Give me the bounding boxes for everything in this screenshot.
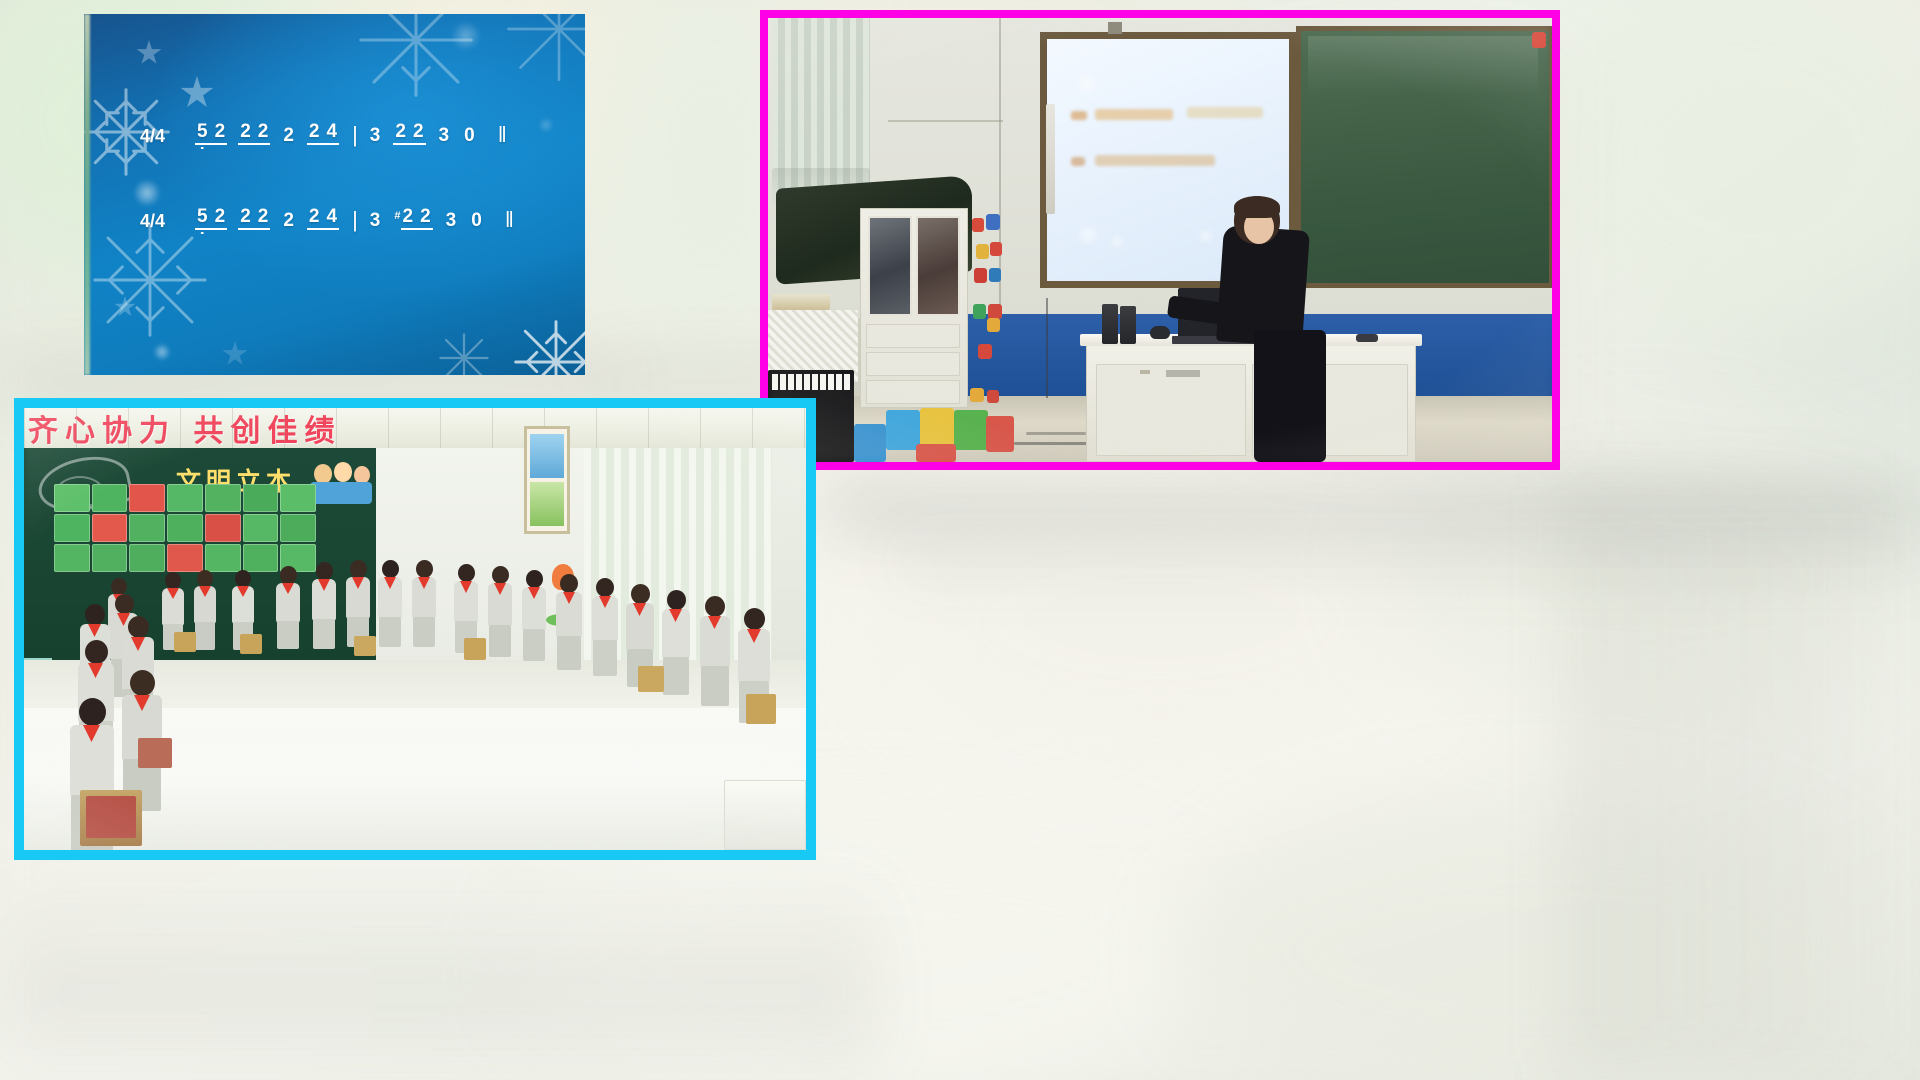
screen-text-line (1095, 109, 1173, 120)
bulletin-poster (530, 434, 564, 478)
student-legs (379, 617, 401, 647)
wooden-stool (746, 694, 776, 724)
cabinet-drawer (866, 380, 960, 404)
cube (54, 544, 90, 572)
student-head (111, 578, 127, 595)
bokeh-light (134, 180, 160, 206)
cube (167, 544, 203, 572)
wooden-stool (354, 636, 376, 656)
student-head (79, 698, 106, 726)
wooden-stool (174, 632, 196, 652)
background-shelf-band-7 (0, 860, 880, 1080)
cube (243, 544, 279, 572)
background-shelf-band-6 (1560, 470, 1920, 1080)
note: 3 (368, 211, 383, 230)
barline: | (352, 210, 358, 230)
student-head (128, 616, 149, 638)
time-signature: 4/4 (140, 212, 165, 230)
student (520, 570, 548, 668)
student (274, 566, 302, 654)
student (554, 574, 584, 674)
teacher-lower-body (1254, 330, 1326, 462)
computer-mouse (1150, 326, 1170, 339)
storage-cube-wall (54, 484, 316, 572)
student (410, 560, 438, 654)
floor-cable (1026, 432, 1086, 435)
screen-text-line (1071, 111, 1087, 120)
cartoon-figure (334, 462, 352, 482)
note: 5 (195, 122, 210, 141)
screen-root: 4/4 52 22 2 24 | 3 (0, 0, 1920, 1080)
wall-decoration (990, 242, 1002, 256)
music-notation-slide-panel[interactable]: 4/4 52 22 2 24 | 3 (84, 14, 585, 375)
cabinet-drawer (866, 324, 960, 348)
note-group: 3 (437, 126, 452, 145)
student-legs (593, 640, 617, 676)
slide-left-edge (84, 14, 90, 375)
cartoon-body (310, 482, 372, 504)
notation-line-1: 4/4 52 22 2 24 | 3 (140, 122, 505, 145)
slogan-banner: 齐心协力 共创佳绩 (24, 408, 806, 448)
screen-glare (1109, 235, 1125, 249)
projector-mount (1108, 22, 1122, 34)
note: 2 (281, 211, 296, 230)
rest-note: 0 (469, 211, 484, 230)
screen-glare (1075, 73, 1099, 95)
banner-text: 齐心协力 共创佳绩 (28, 408, 341, 448)
rest-note: 0 (462, 126, 477, 145)
screen-sidebar-strip (1046, 104, 1055, 214)
chalkboard-highlight (1308, 36, 1538, 96)
student-legs (489, 625, 511, 657)
note: 2 (411, 122, 426, 141)
teacher-camera-panel[interactable] (760, 10, 1560, 470)
bokeh-light (452, 22, 480, 50)
wall-decoration (987, 390, 999, 403)
stool-cushion (86, 796, 136, 838)
note: 2 (238, 207, 253, 226)
student-head (596, 578, 614, 597)
storage-cube (986, 416, 1014, 452)
note-group: 24 (307, 207, 339, 230)
storage-cube (854, 424, 886, 462)
cube (243, 484, 279, 512)
student-legs (663, 657, 689, 695)
cube (92, 484, 128, 512)
cube (205, 544, 241, 572)
bokeh-light (154, 344, 170, 360)
note-group: 52 (195, 207, 227, 230)
note-group: 22 (393, 122, 425, 145)
student (486, 566, 514, 664)
wall-decoration (989, 268, 1001, 282)
student-legs (523, 629, 545, 661)
student-head (560, 574, 578, 593)
note: 2 (213, 207, 228, 226)
note: 5 (195, 207, 210, 226)
storage-cube (954, 410, 988, 450)
student-head (350, 560, 367, 578)
cube (129, 484, 165, 512)
screen-glare (1075, 225, 1101, 245)
star-icon (136, 40, 162, 66)
student-legs (313, 619, 335, 649)
note: 2 (307, 207, 322, 226)
screen-text-line (1095, 155, 1215, 166)
cube (280, 514, 316, 542)
note: 2 (256, 207, 271, 226)
screen-text-line (1071, 157, 1085, 166)
note-group: 22 (401, 207, 433, 230)
student-head (85, 640, 108, 664)
note-group: 22 (238, 122, 270, 145)
podium-label (1166, 370, 1200, 377)
student-head (492, 566, 509, 584)
note-group: 22 (238, 207, 270, 230)
wall-decoration (986, 214, 1000, 230)
cabinet-glass-right (916, 216, 960, 316)
cube (92, 544, 128, 572)
wall-decoration (988, 304, 1002, 319)
time-signature: 4/4 (140, 127, 165, 145)
student (698, 596, 732, 710)
end-barline: ‖ (505, 210, 512, 230)
bulletin-poster (530, 482, 564, 526)
note: 3 (368, 126, 383, 145)
cube (243, 514, 279, 542)
student-head (631, 584, 650, 604)
cube (129, 514, 165, 542)
cube (54, 514, 90, 542)
note: 2 (401, 207, 416, 226)
student (590, 578, 620, 682)
note: 4 (325, 207, 340, 226)
wooden-stool (638, 666, 664, 692)
snowflake-icon (504, 14, 585, 84)
student-head (316, 562, 333, 580)
student-head (165, 572, 181, 589)
note: 4 (325, 122, 340, 141)
screen-text-line (1187, 107, 1263, 118)
note-group: 0 (469, 211, 484, 230)
slide-canvas: 4/4 52 22 2 24 | 3 (84, 14, 585, 375)
screen-cable (1046, 298, 1048, 398)
student-head (705, 596, 725, 617)
cube (280, 484, 316, 512)
note: 3 (437, 126, 452, 145)
note-group: 3 (444, 211, 459, 230)
cartoon-figure (314, 464, 332, 484)
star-icon (180, 76, 214, 110)
students-camera-panel[interactable]: 齐心协力 共创佳绩 文明立本 (14, 398, 816, 860)
teacher-scene (768, 18, 1552, 462)
wooden-stool (240, 634, 262, 654)
storage-cube (886, 410, 920, 450)
cube (205, 514, 241, 542)
storage-cube (916, 444, 956, 462)
cabinet-drawer (866, 352, 960, 376)
student-head (130, 670, 155, 696)
note: 2 (281, 126, 296, 145)
student (376, 560, 404, 654)
note-group: 3 (368, 211, 383, 230)
wall-decoration (970, 388, 984, 402)
student-head (416, 560, 433, 578)
piano-keys (772, 374, 850, 390)
cube (92, 514, 128, 542)
student-head (458, 564, 475, 582)
wall-decoration (987, 318, 1000, 332)
desktop-speaker (1120, 306, 1136, 344)
snowflake-icon (436, 330, 492, 375)
note: 2 (213, 122, 228, 141)
note: 2 (256, 122, 271, 141)
student (660, 590, 692, 700)
note-group: 24 (307, 122, 339, 145)
note: 2 (418, 207, 433, 226)
wall-decoration (972, 218, 984, 232)
student-head (197, 570, 213, 587)
student-head (235, 570, 251, 587)
student (310, 562, 338, 654)
snowflake-icon (90, 220, 210, 340)
desktop-speaker (1102, 304, 1118, 344)
student-head (526, 570, 543, 588)
student-legs (277, 621, 299, 649)
cabinet-glass-left (868, 216, 912, 316)
wall-decoration (978, 344, 992, 359)
podium-handle (1140, 370, 1150, 374)
student-head (744, 608, 765, 630)
white-desk (724, 780, 806, 850)
wooden-stool (464, 638, 486, 660)
book-stack (772, 294, 830, 310)
teacher-hair-front (1234, 196, 1280, 218)
screen-glare (1197, 229, 1215, 243)
cube (167, 484, 203, 512)
cube (54, 484, 90, 512)
note-group: 2 (281, 211, 296, 230)
podium-panel (1096, 364, 1246, 456)
notation-line-2: 4/4 52 22 2 24 | 3 (140, 207, 512, 230)
note: 2 (307, 122, 322, 141)
wooden-stool (138, 738, 172, 768)
students-scene: 齐心协力 共创佳绩 文明立本 (24, 408, 806, 850)
student-legs (557, 636, 581, 670)
board-corner-marker (1532, 32, 1546, 48)
student-legs (413, 617, 435, 647)
student-head (382, 560, 399, 578)
note: 3 (444, 211, 459, 230)
wall-decoration (973, 304, 986, 319)
cube (167, 514, 203, 542)
student-head (115, 594, 134, 614)
barline: | (352, 125, 358, 145)
student-head (85, 604, 105, 625)
remote-control (1356, 334, 1378, 342)
student-legs (701, 666, 729, 706)
cube (205, 484, 241, 512)
star-icon (114, 296, 136, 318)
snowflake-icon (508, 314, 585, 375)
note: 2 (393, 122, 408, 141)
note-group: 2 (281, 126, 296, 145)
note-group: 0 (462, 126, 477, 145)
note-group: 3 (368, 126, 383, 145)
student-head (667, 590, 686, 610)
cube (129, 544, 165, 572)
student-head (280, 566, 297, 584)
note: 2 (238, 122, 253, 141)
wall-decoration (976, 244, 989, 259)
bokeh-light (539, 118, 553, 132)
student-legs (195, 622, 215, 650)
end-barline: ‖ (498, 125, 505, 145)
note-group: 52 (195, 122, 227, 145)
wall-decoration (974, 268, 987, 283)
star-icon (222, 341, 248, 367)
wall-seam-horizontal (888, 120, 1003, 122)
